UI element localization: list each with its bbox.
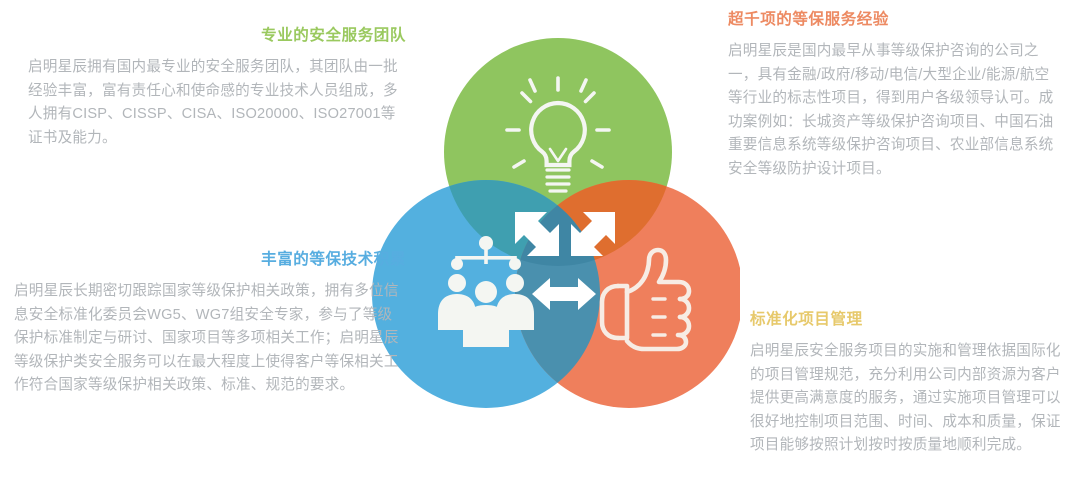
- experience-body: 启明星辰是国内最早从事等级保护咨询的公司之一，具有金融/政府/移动/电信/大型企…: [728, 40, 1064, 182]
- technology-title: 丰富的等保技术积累: [14, 250, 406, 271]
- management-title: 标准化项目管理: [750, 310, 1070, 331]
- management-body: 启明星辰安全服务项目的实施和管理依据国际化的项目管理规范，充分利用公司内部资源为…: [750, 340, 1070, 458]
- team-body: 启明星辰拥有国内最专业的安全服务团队，其团队由一批经验丰富，富有责任心和使命感的…: [28, 56, 406, 151]
- technology-body: 启明星辰长期密切跟踪国家等级保护相关政策，拥有多位信息安全标准化委员会WG5、W…: [14, 280, 406, 398]
- text-block-management: 标准化项目管理 启明星辰安全服务项目的实施和管理依据国际化的项目管理规范，充分利…: [750, 310, 1070, 458]
- infographic-canvas: 专业的安全服务团队 启明星辰拥有国内最专业的安全服务团队，其团队由一批经验丰富，…: [0, 0, 1080, 497]
- text-block-team: 专业的安全服务团队 启明星辰拥有国内最专业的安全服务团队，其团队由一批经验丰富，…: [28, 26, 406, 150]
- venn-diagram: [360, 20, 740, 430]
- text-block-technology: 丰富的等保技术积累 启明星辰长期密切跟踪国家等级保护相关政策，拥有多位信息安全标…: [14, 250, 406, 398]
- team-title: 专业的安全服务团队: [28, 26, 406, 47]
- text-block-experience: 超千项的等保服务经验 启明星辰是国内最早从事等级保护咨询的公司之一，具有金融/政…: [728, 10, 1064, 182]
- experience-title: 超千项的等保服务经验: [728, 10, 1064, 31]
